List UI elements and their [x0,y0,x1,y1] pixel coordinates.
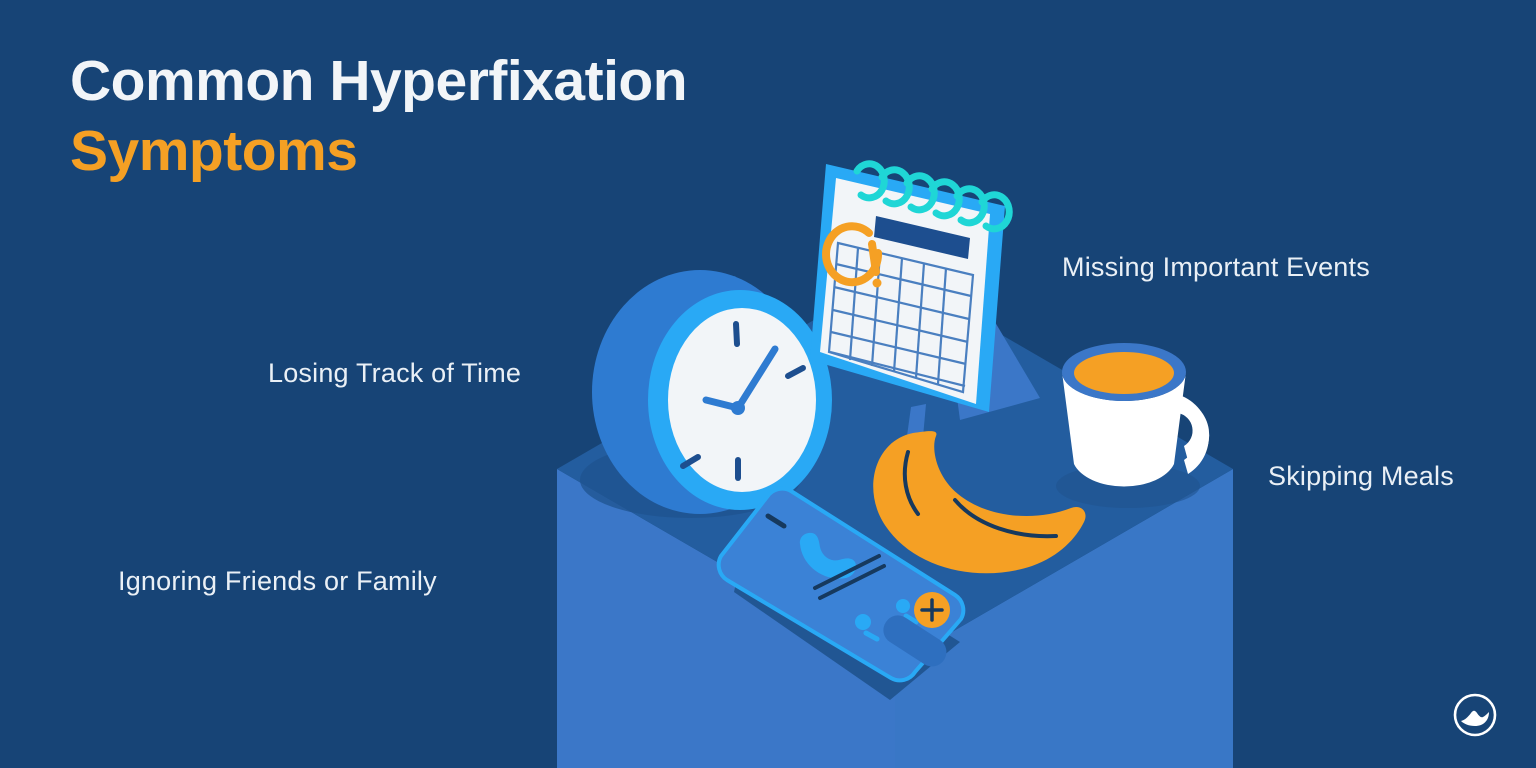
mug-liquid [1074,352,1174,394]
title-line-accent: Symptoms [70,116,890,186]
coffee-mug [1056,343,1209,508]
label-ignoring-friends-or-family: Ignoring Friends or Family [118,566,437,597]
title-line-primary: Common Hyperfixation [70,46,890,116]
infographic-canvas: Common Hyperfixation Symptoms Losing Tra… [0,0,1536,768]
mountain-circle-logo [1452,692,1498,738]
wall-clock [580,270,832,518]
label-losing-track-of-time: Losing Track of Time [268,358,521,389]
label-skipping-meals: Skipping Meals [1268,461,1454,492]
add-contact-button[interactable] [914,592,950,628]
page-title: Common Hyperfixation Symptoms [70,46,890,186]
label-missing-important-events: Missing Important Events [1062,252,1370,283]
clock-center-pin [731,401,745,415]
